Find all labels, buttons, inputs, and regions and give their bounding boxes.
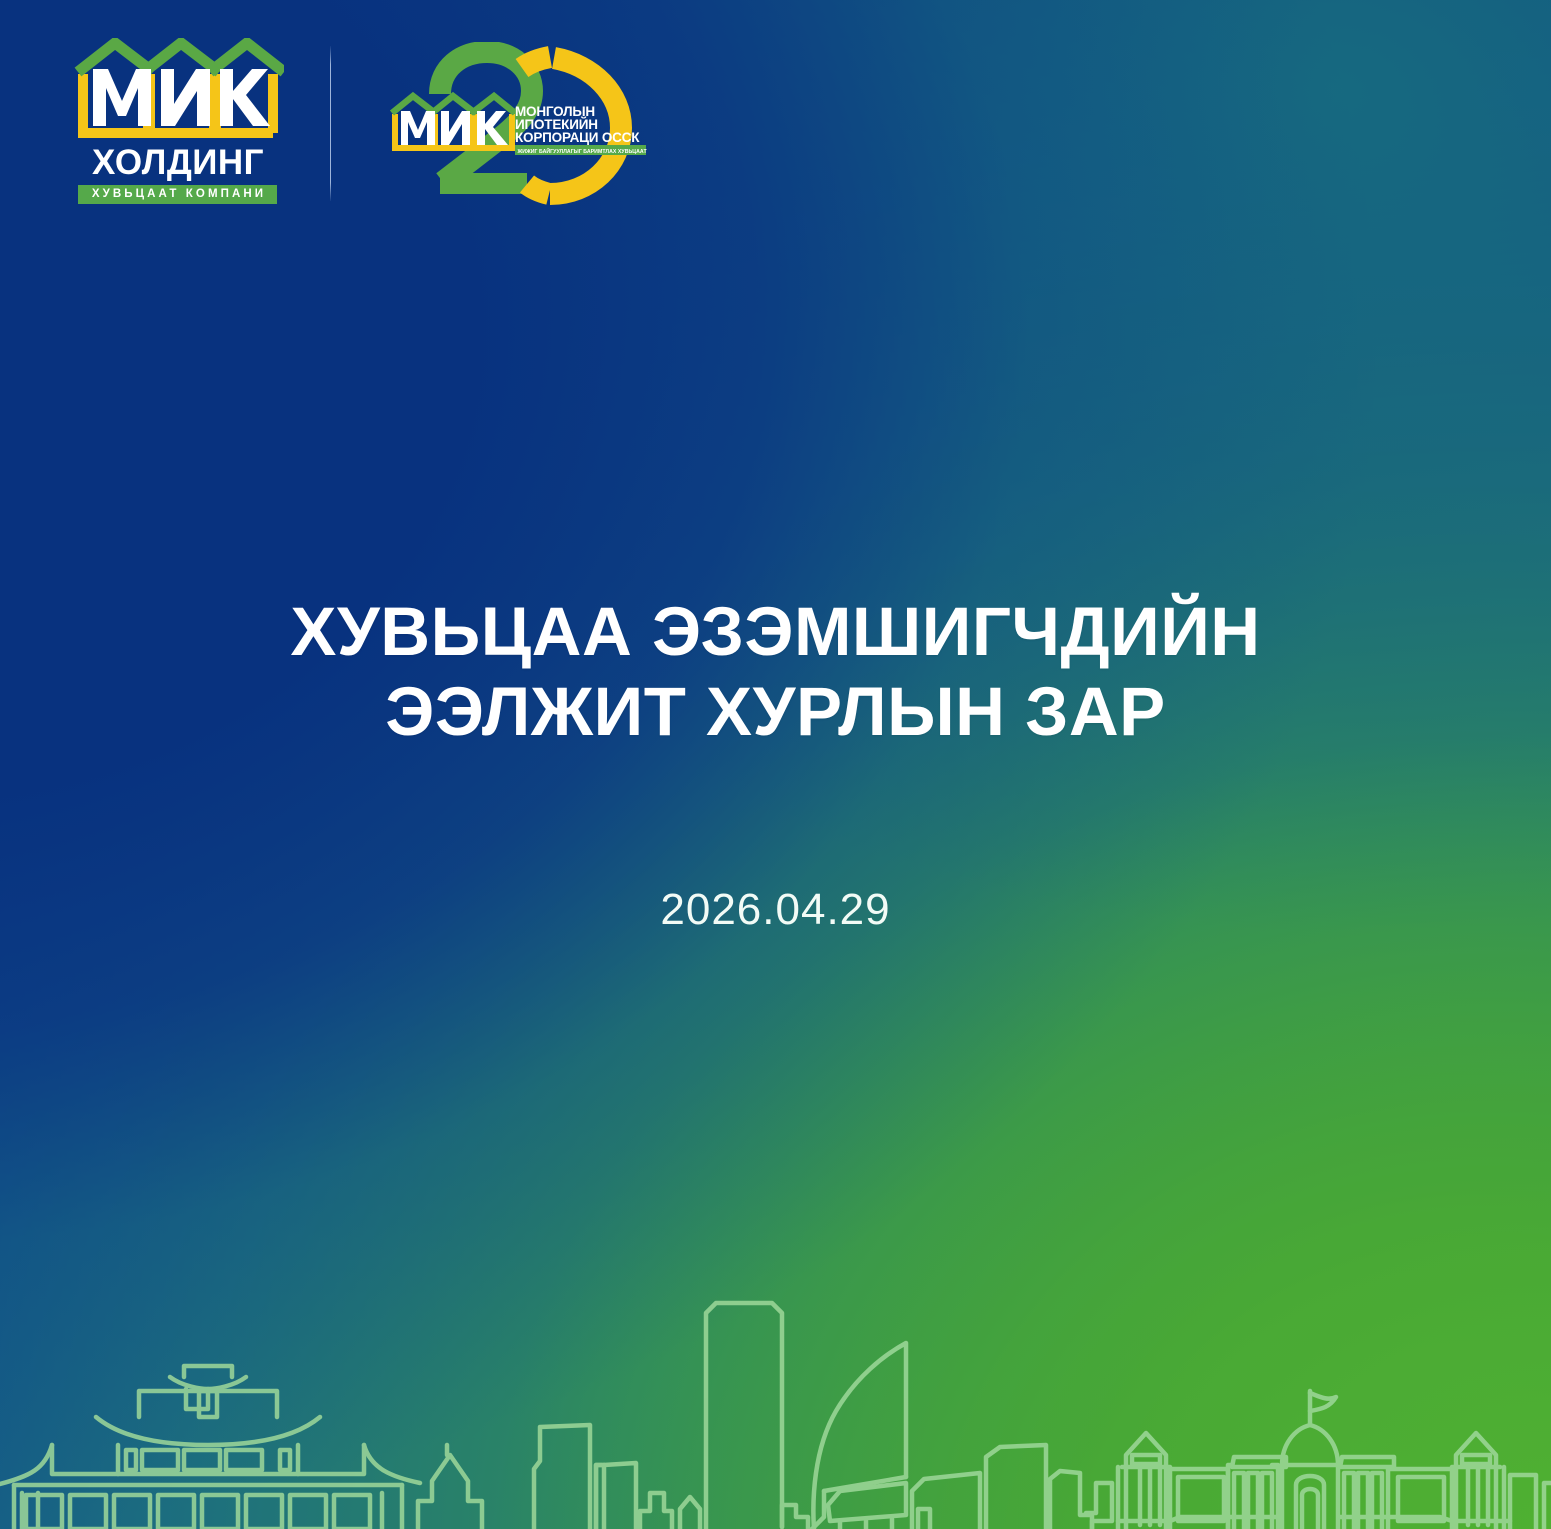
page-title: ХУВЬЦАА ЭЗЭМШИГЧДИЙН ЭЭЛЖИТ ХУРЛЫН ЗАР <box>0 592 1551 752</box>
slide-title-block: ХУВЬЦАА ЭЗЭМШИГЧДИЙН ЭЭЛЖИТ ХУРЛЫН ЗАР <box>0 592 1551 752</box>
anniv-company-line-3: КОРПОРАЦИ ОССК <box>515 130 640 145</box>
presentation-slide: ХОЛДИНГ ХУВЬЦААТ КОМПАНИ <box>0 0 1551 1529</box>
holding-wordmark: ХОЛДИНГ <box>72 145 284 180</box>
title-line-1: ХУВЬЦАА ЭЗЭМШИГЧДИЙН <box>0 592 1551 672</box>
modern-towers-outline <box>534 1303 1092 1529</box>
anniv-company-subline: ЖИЖИГ БАЙГУУЛЛАГЫГ БАРИМТЛАХ ХУВЬЦААТ <box>517 147 648 155</box>
logo-row: ХОЛДИНГ ХУВЬЦААТ КОМПАНИ <box>72 38 652 207</box>
mik-holding-logo: ХОЛДИНГ ХУВЬЦААТ КОМПАНИ <box>72 38 284 204</box>
slide-date: 2026.04.29 <box>0 885 1551 935</box>
pointed-roof-building-outline <box>418 1445 482 1529</box>
mik-house-mark-icon <box>72 38 284 143</box>
logo-divider <box>330 46 331 201</box>
foreground-block-outline <box>1086 1483 1112 1529</box>
parliament-building-outline <box>1118 1391 1551 1529</box>
title-line-2: ЭЭЛЖИТ ХУРЛЫН ЗАР <box>0 672 1551 752</box>
anniversary-mark-icon: МОНГОЛЫН ИПОТЕКИЙН КОРПОРАЦИ ОССК ЖИЖИГ … <box>377 42 652 207</box>
traditional-gate-outline <box>0 1366 420 1529</box>
city-skyline-illustration <box>0 1269 1551 1529</box>
holding-badge: ХУВЬЦААТ КОМПАНИ <box>78 185 277 204</box>
mik-20-anniversary-logo: МОНГОЛЫН ИПОТЕКИЙН КОРПОРАЦИ ОССК ЖИЖИГ … <box>377 42 652 207</box>
